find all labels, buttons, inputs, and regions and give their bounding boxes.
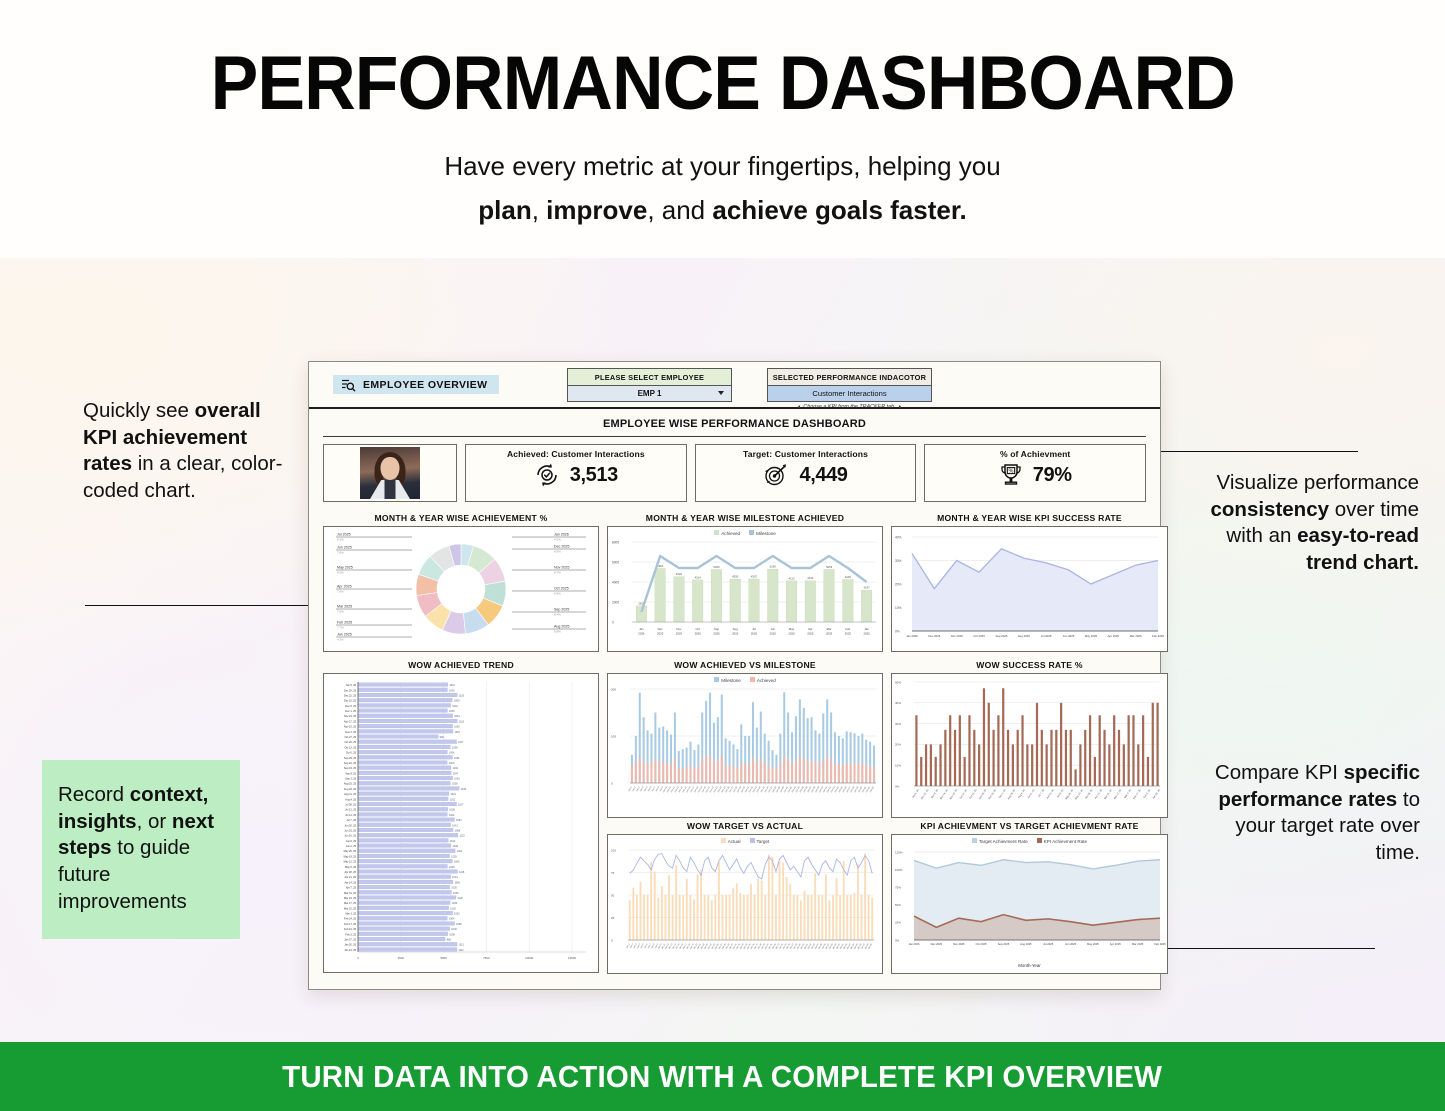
svg-text:75%: 75%: [895, 886, 901, 890]
svg-text:Dec 2025: Dec 2025: [931, 942, 943, 946]
employee-photo-card: [323, 444, 457, 502]
svg-text:Sep 29, 25: Sep 29, 25: [978, 788, 987, 800]
svg-text:Apr 7, 25: Apr 7, 25: [346, 887, 357, 890]
svg-text:May 5, 25: May 5, 25: [345, 866, 357, 869]
svg-text:1005: 1005: [449, 689, 455, 692]
kpi-target-xlabel: Month-Year: [892, 962, 1167, 968]
svg-text:Apr 28, 25: Apr 28, 25: [1085, 788, 1094, 799]
svg-text:Dec: Dec: [658, 627, 664, 631]
svg-text:Aug 4, 25: Aug 4, 25: [1017, 788, 1026, 799]
legend-wow-milestone: Milestone Achieved: [608, 674, 882, 683]
svg-text:Oct 6, 25: Oct 6, 25: [346, 752, 357, 755]
svg-text:1013: 1013: [450, 840, 456, 843]
svg-text:Feb 17, 25: Feb 17, 25: [1133, 788, 1142, 800]
svg-text:8.9%: 8.9%: [554, 591, 561, 595]
chart-wow-achieved-trend-plot[interactable]: 025005000750010000125001010Jan 5, 261005…: [323, 673, 599, 973]
employee-overview-chip[interactable]: EMPLOYEE OVERVIEW: [333, 375, 499, 394]
svg-text:4245: 4245: [845, 575, 852, 579]
svg-text:4000: 4000: [612, 580, 619, 584]
svg-text:20%: 20%: [895, 582, 902, 586]
subtitle-bold-improve: improve: [546, 195, 647, 225]
svg-text:Apr 2025: Apr 2025: [1108, 634, 1120, 638]
kpi-selector-caption: SELECTED PERFORMANCE INDACOTOR: [767, 368, 932, 386]
svg-text:Jun 2025: Jun 2025: [1063, 634, 1075, 638]
svg-text:Feb 2025: Feb 2025: [337, 621, 352, 625]
svg-text:1084: 1084: [456, 819, 462, 822]
svg-text:Jan: Jan: [864, 627, 869, 631]
svg-text:Aug 2025: Aug 2025: [554, 625, 569, 629]
svg-text:Mar 2025: Mar 2025: [1132, 942, 1144, 946]
svg-text:Oct 2025: Oct 2025: [976, 942, 987, 946]
kpi-card-percent: % of Achievment % 79%: [924, 444, 1146, 502]
svg-text:Sep 1, 25: Sep 1, 25: [345, 778, 356, 781]
anno4-text-1: Compare KPI: [1215, 761, 1344, 784]
svg-text:Aug 11, 25: Aug 11, 25: [344, 793, 357, 796]
annotation-kpi-achievement: Quickly see overall KPI achievement rate…: [83, 398, 288, 505]
employee-selector[interactable]: PLEASE SELECT EMPLOYEE EMP 1: [567, 368, 732, 402]
svg-text:Dec 8, 25: Dec 8, 25: [345, 705, 356, 708]
svg-text:1035: 1035: [452, 902, 458, 905]
svg-text:1030: 1030: [451, 928, 457, 931]
svg-text:Jan 20, 25: Jan 20, 25: [344, 944, 356, 947]
svg-text:Aug 18, 25: Aug 18, 25: [1007, 788, 1016, 800]
svg-text:Jun 9, 25: Jun 9, 25: [1056, 788, 1064, 798]
chart-achievement-pct-title: MONTH & YEAR WISE ACHIEVEMENT %: [323, 510, 599, 526]
svg-text:0%: 0%: [895, 784, 900, 788]
legend-milestone: Achieved Milestone: [608, 527, 882, 536]
wow-target-actual-svg: 0255075100Jan 1Jan 2Jan 3Jan 4Jan 5Jan 6…: [608, 844, 882, 968]
svg-text:4.5%: 4.5%: [554, 537, 561, 541]
svg-text:1060: 1060: [454, 700, 460, 703]
svg-text:50%: 50%: [895, 680, 901, 684]
anno2-text-2: , or: [137, 810, 172, 833]
svg-text:Jan: Jan: [639, 627, 644, 631]
svg-text:Apr 28, 25: Apr 28, 25: [344, 871, 356, 874]
svg-text:1068: 1068: [455, 829, 461, 832]
svg-text:2026: 2026: [638, 632, 645, 636]
kpi-card-row: Achieved: Customer Interactions 3,513 Ta…: [309, 444, 1160, 510]
svg-text:1100: 1100: [457, 897, 463, 900]
svg-text:2025: 2025: [751, 632, 758, 636]
svg-text:40%: 40%: [895, 535, 902, 539]
svg-text:200: 200: [611, 687, 616, 691]
svg-text:Feb 17, 25: Feb 17, 25: [344, 923, 357, 926]
subtitle-line-2: plan, improve, and achieve goals faster.: [478, 195, 967, 226]
achieved-target-icon: [534, 462, 560, 488]
bottom-banner: TURN DATA INTO ACTION WITH A COMPLETE KP…: [0, 1042, 1445, 1111]
svg-text:Mar: Mar: [827, 627, 832, 631]
svg-text:4214: 4214: [695, 575, 702, 579]
chevron-down-icon[interactable]: [718, 391, 724, 395]
svg-text:Nov 10, 25: Nov 10, 25: [949, 788, 958, 800]
svg-text:75: 75: [611, 871, 615, 875]
svg-text:1044: 1044: [452, 767, 458, 770]
svg-text:Oct 13, 25: Oct 13, 25: [344, 746, 356, 749]
svg-text:1085: 1085: [456, 923, 462, 926]
wow-trend-svg: 025005000750010000125001010Jan 5, 261005…: [324, 674, 598, 972]
kpi-selector-value[interactable]: Customer Interactions: [767, 386, 932, 403]
chart-wow-achieved-vs-milestone-plot[interactable]: Milestone Achieved 0100200Jan 1Jan 2Jan …: [607, 673, 883, 818]
svg-text:Sep 15, 25: Sep 15, 25: [344, 767, 357, 770]
svg-text:4116: 4116: [807, 576, 813, 580]
svg-text:1107: 1107: [458, 803, 464, 806]
svg-text:1029: 1029: [451, 855, 457, 858]
svg-text:Jan 2025: Jan 2025: [337, 633, 352, 637]
svg-text:Sep 1, 25: Sep 1, 25: [998, 788, 1007, 799]
svg-text:Jun: Jun: [771, 627, 776, 631]
anno1-text-1: Quickly see: [83, 399, 195, 422]
milestone-chart-svg: 0200040006000800016105354453242145250429…: [608, 536, 882, 646]
svg-text:10%: 10%: [895, 606, 902, 610]
svg-text:May 2025: May 2025: [1085, 634, 1098, 638]
anno2-text-1: Record: [58, 783, 130, 806]
svg-text:Oct 20, 25: Oct 20, 25: [344, 741, 356, 744]
svg-text:Jul 2025: Jul 2025: [1041, 634, 1052, 638]
svg-text:Feb 2025: Feb 2025: [1154, 942, 1166, 946]
svg-text:1003: 1003: [449, 762, 455, 765]
chart-wow-achieved-trend: WOW ACHIEVED TREND 025005000750010000125…: [323, 657, 599, 974]
svg-text:1060: 1060: [454, 861, 460, 864]
svg-text:Jul 28, 25: Jul 28, 25: [345, 803, 356, 806]
svg-text:30%: 30%: [895, 722, 901, 726]
chart-wow-target-vs-actual-title: WOW TARGET VS ACTUAL: [607, 818, 883, 834]
svg-text:Mar 31, 25: Mar 31, 25: [344, 892, 357, 895]
svg-text:100: 100: [611, 848, 616, 852]
wow-success-svg: 0%10%20%30%40%50%Jan 5, 26Dec 22, 25Dec …: [892, 674, 1167, 817]
chart-row-1: MONTH & YEAR WISE ACHIEVEMENT % Jan 2026…: [323, 510, 1146, 652]
svg-text:Jun 16, 25: Jun 16, 25: [344, 835, 356, 838]
chart-wow-achieved-vs-milestone-title: WOW ACHIEVED VS MILESTONE: [607, 657, 883, 673]
svg-text:1047: 1047: [453, 772, 459, 775]
svg-text:Aug: Aug: [733, 627, 738, 631]
svg-text:%: %: [1008, 468, 1013, 474]
svg-text:125%: 125%: [895, 850, 903, 854]
svg-text:Apr 14, 25: Apr 14, 25: [344, 881, 356, 884]
svg-text:Mar 3, 25: Mar 3, 25: [345, 913, 356, 916]
svg-text:30%: 30%: [895, 559, 902, 563]
page-header: PERFORMANCE DASHBOARD Have every metric …: [0, 0, 1445, 258]
trophy-percent-icon: %: [999, 462, 1023, 488]
chart-wow-success-rate-plot[interactable]: 0%10%20%30%40%50%Jan 5, 26Dec 22, 25Dec …: [891, 673, 1168, 818]
svg-text:May 2025: May 2025: [1087, 942, 1099, 946]
svg-text:1008: 1008: [449, 933, 455, 936]
svg-text:Jun 30, 25: Jun 30, 25: [344, 824, 356, 827]
svg-text:Jul 2025: Jul 2025: [1043, 942, 1054, 946]
svg-text:Oct 13, 25: Oct 13, 25: [969, 788, 978, 799]
svg-text:2025: 2025: [676, 632, 683, 636]
svg-text:2025: 2025: [657, 632, 664, 636]
chart-wow-target-vs-actual-plot[interactable]: Actual Target 0255075100Jan 1Jan 2Jan 3J…: [607, 834, 883, 974]
search-list-icon: [341, 378, 356, 392]
svg-text:Jul 2025: Jul 2025: [337, 533, 351, 537]
svg-text:Apr 2025: Apr 2025: [337, 585, 352, 589]
svg-text:2025: 2025: [788, 632, 795, 636]
employee-selector-value[interactable]: EMP 1: [567, 386, 732, 403]
svg-text:8.4%: 8.4%: [554, 612, 561, 616]
svg-text:1063: 1063: [454, 778, 460, 781]
svg-text:1041: 1041: [452, 876, 458, 879]
svg-text:5000: 5000: [440, 956, 447, 960]
svg-text:0: 0: [357, 956, 359, 960]
svg-text:1067: 1067: [454, 731, 460, 734]
svg-text:May 12, 25: May 12, 25: [1074, 788, 1084, 800]
subtitle-line-1: Have every metric at your fingertips, he…: [444, 151, 1000, 182]
svg-text:May 26, 25: May 26, 25: [1065, 788, 1075, 800]
svg-text:0%: 0%: [895, 938, 900, 942]
svg-text:10000: 10000: [525, 956, 533, 960]
svg-text:7.8%: 7.8%: [337, 550, 344, 554]
svg-text:Aug 2025: Aug 2025: [1020, 942, 1032, 946]
kpi-card-percent-caption: % of Achievment: [931, 449, 1139, 459]
kpi-card-achieved: Achieved: Customer Interactions 3,513: [465, 444, 687, 502]
svg-text:8.8%: 8.8%: [554, 629, 561, 633]
svg-text:1010: 1010: [449, 684, 455, 687]
subtitle-bold-achieve: achieve goals faster.: [712, 195, 966, 225]
avatar-face: [381, 457, 400, 480]
svg-text:Jan 69: Jan 69: [868, 943, 873, 950]
svg-text:7.6%: 7.6%: [337, 609, 344, 613]
svg-text:Jan 5, 26: Jan 5, 26: [912, 788, 920, 798]
chart-kpi-success-rate-plot[interactable]: 0%10%20%30%40%Jan 2026Dec 2025Nov 2025Oc…: [891, 526, 1168, 652]
svg-text:Oct: Oct: [696, 627, 701, 631]
svg-text:1038: 1038: [452, 783, 458, 786]
svg-text:Dec 29, 25: Dec 29, 25: [344, 689, 357, 692]
svg-text:1062: 1062: [454, 913, 460, 916]
svg-text:Nov 2025: Nov 2025: [951, 634, 963, 638]
svg-text:Sep: Sep: [714, 627, 719, 631]
svg-text:1116: 1116: [459, 720, 465, 723]
annotation-trend-chart: Visualize performance consistency over t…: [1204, 470, 1419, 577]
svg-text:Sep 2025: Sep 2025: [998, 942, 1010, 946]
anno3-text-1: Visualize performance: [1217, 471, 1419, 494]
svg-text:Jun 23, 25: Jun 23, 25: [344, 829, 356, 832]
subtitle-sep-1: ,: [532, 195, 546, 225]
svg-text:2025: 2025: [770, 632, 777, 636]
svg-text:1012: 1012: [450, 798, 456, 801]
svg-text:Aug 25, 25: Aug 25, 25: [344, 783, 357, 786]
svg-text:Jul 7, 25: Jul 7, 25: [347, 819, 357, 822]
svg-text:Apr: Apr: [808, 627, 812, 631]
chart-kpi-vs-target-title: KPI ACHIEVMENT VS TARGET ACHIEVMENT RATE: [891, 818, 1168, 834]
svg-text:Jul: Jul: [752, 627, 756, 631]
svg-text:1018: 1018: [450, 907, 456, 910]
svg-text:Jun 2025: Jun 2025: [1065, 942, 1077, 946]
svg-text:2025: 2025: [863, 632, 870, 636]
svg-text:2025: 2025: [845, 632, 852, 636]
svg-text:Jun 23, 25: Jun 23, 25: [1046, 788, 1055, 799]
svg-text:4.3%: 4.3%: [337, 637, 344, 641]
svg-text:4290: 4290: [732, 575, 739, 579]
svg-text:Nov 24, 25: Nov 24, 25: [344, 715, 357, 718]
svg-text:Aug 4, 25: Aug 4, 25: [345, 798, 356, 801]
svg-text:Jan 63: Jan 63: [870, 786, 876, 793]
employee-overview-label: EMPLOYEE OVERVIEW: [363, 379, 487, 391]
employee-selector-text: EMP 1: [638, 389, 662, 398]
svg-text:Mar 2025: Mar 2025: [337, 605, 352, 609]
title-divider: [323, 436, 1146, 437]
svg-text:7500: 7500: [483, 956, 490, 960]
svg-text:1042: 1042: [452, 705, 458, 708]
chart-row-2: WOW ACHIEVED TREND 025005000750010000125…: [323, 657, 1146, 974]
svg-text:1064: 1064: [454, 715, 460, 718]
svg-text:1063: 1063: [454, 726, 460, 729]
svg-text:Jan 2026: Jan 2026: [554, 533, 569, 537]
svg-text:Dec 15, 25: Dec 15, 25: [344, 700, 357, 703]
svg-text:Oct 2025: Oct 2025: [554, 587, 569, 591]
annotation-compare-rates: Compare KPI specific performance rates t…: [1198, 760, 1420, 867]
svg-text:1004: 1004: [449, 814, 455, 817]
svg-text:2500: 2500: [398, 956, 405, 960]
svg-text:2025: 2025: [695, 632, 702, 636]
chart-kpi-success-rate: MONTH & YEAR WISE KPI SUCCESS RATE 0%10%…: [891, 510, 1168, 652]
svg-text:0: 0: [612, 620, 614, 624]
svg-text:1118: 1118: [459, 871, 465, 874]
kpi-card-target-caption: Target: Customer Interactions: [702, 449, 910, 459]
svg-text:3187: 3187: [863, 586, 870, 590]
svg-text:Mar 3, 25: Mar 3, 25: [1124, 788, 1133, 799]
kpi-selector-hint: ▲ Choose a KPI from the TRACKER tab. ▲: [767, 404, 932, 410]
svg-text:May: May: [789, 627, 795, 631]
svg-text:1050: 1050: [453, 892, 459, 895]
svg-text:Apr 14, 25: Apr 14, 25: [1094, 788, 1103, 799]
svg-text:Feb 2025: Feb 2025: [1152, 634, 1164, 638]
svg-text:25: 25: [611, 916, 615, 920]
svg-text:Jan 20, 25: Jan 20, 25: [1152, 788, 1161, 799]
annotation-record-context: Record context, insights, or next steps …: [42, 760, 240, 939]
svg-text:1091: 1091: [457, 850, 463, 853]
svg-text:5290: 5290: [770, 565, 777, 569]
chart-milestone-achieved-plot[interactable]: Achieved Milestone 020004000600080001610…: [607, 526, 883, 652]
svg-text:Jan 27, 25: Jan 27, 25: [344, 938, 356, 941]
chart-wow-success-rate-title: WOW SUCCESS RATE %: [891, 657, 1168, 673]
employee-selector-caption: PLEASE SELECT EMPLOYEE: [567, 368, 732, 386]
kpi-card-achieved-caption: Achieved: Customer Interactions: [472, 449, 680, 459]
chart-achievement-pct: MONTH & YEAR WISE ACHIEVEMENT % Jan 2026…: [323, 510, 599, 652]
svg-text:0: 0: [611, 781, 613, 785]
svg-text:May 2025: May 2025: [337, 566, 353, 570]
svg-text:Jul 14, 25: Jul 14, 25: [345, 814, 356, 817]
avatar: [360, 447, 420, 499]
svg-text:1122: 1122: [459, 835, 465, 838]
page-title: PERFORMANCE DASHBOARD: [210, 46, 1234, 122]
svg-text:Mar 24, 25: Mar 24, 25: [344, 897, 357, 900]
svg-text:Jul 21, 25: Jul 21, 25: [1027, 788, 1036, 799]
svg-text:Jun 2, 25: Jun 2, 25: [346, 845, 357, 848]
svg-text:Dec 1, 25: Dec 1, 25: [345, 710, 356, 713]
svg-text:2000: 2000: [612, 600, 619, 604]
svg-text:Mar 31, 25: Mar 31, 25: [1104, 788, 1113, 800]
wow-milestone-svg: 0100200Jan 1Jan 2Jan 3Jan 4Jan 5Jan 6Jan…: [608, 683, 882, 812]
svg-text:7.6%: 7.6%: [337, 589, 344, 593]
svg-text:1005: 1005: [449, 866, 455, 869]
svg-text:1021: 1021: [450, 793, 456, 796]
svg-text:12500: 12500: [568, 956, 576, 960]
kpi-card-achieved-value: 3,513: [570, 464, 618, 487]
svg-text:980: 980: [447, 938, 452, 941]
chart-milestone-achieved-title: MONTH & YEAR WISE MILESTONE ACHIEVED: [607, 510, 883, 526]
svg-text:4307: 4307: [751, 574, 758, 578]
svg-text:1107: 1107: [458, 741, 464, 744]
svg-text:Apr 21, 25: Apr 21, 25: [344, 876, 356, 879]
svg-text:May 12, 25: May 12, 25: [344, 861, 357, 864]
svg-text:8000: 8000: [612, 540, 619, 544]
svg-text:Dec 8, 25: Dec 8, 25: [931, 788, 940, 799]
svg-text:Mar 17, 25: Mar 17, 25: [344, 902, 357, 905]
svg-text:Aug 2025: Aug 2025: [1018, 634, 1030, 638]
svg-text:1008: 1008: [449, 809, 455, 812]
svg-text:Feb: Feb: [845, 627, 850, 631]
svg-text:Nov 17, 25: Nov 17, 25: [344, 720, 357, 723]
svg-text:100%: 100%: [895, 868, 903, 872]
svg-text:2025: 2025: [713, 632, 720, 636]
svg-text:2025: 2025: [807, 632, 814, 636]
chart-kpi-success-rate-title: MONTH & YEAR WISE KPI SUCCESS RATE: [891, 510, 1168, 526]
svg-text:Nov 2025: Nov 2025: [554, 566, 569, 570]
svg-text:Nov 2025: Nov 2025: [953, 942, 965, 946]
kpi-selector[interactable]: SELECTED PERFORMANCE INDACOTOR Customer …: [767, 368, 932, 410]
donut-chart-svg: Jan 20264.5%Dec 20258.9%Nov 20258.7%Oct …: [324, 527, 598, 651]
svg-text:Sep 15, 25: Sep 15, 25: [988, 788, 997, 800]
svg-text:Mar 17, 25: Mar 17, 25: [1113, 788, 1122, 800]
chart-kpi-vs-target-plot[interactable]: Target Achievment Rate KPI Achievment Ra…: [891, 834, 1168, 974]
svg-text:5250: 5250: [713, 565, 720, 569]
svg-text:Jul 21, 25: Jul 21, 25: [345, 809, 356, 812]
svg-text:8.3%: 8.3%: [337, 537, 344, 541]
svg-text:Dec 2025: Dec 2025: [554, 545, 569, 549]
svg-text:Feb 24, 25: Feb 24, 25: [344, 918, 357, 921]
chart-col-right: WOW SUCCESS RATE % 0%10%20%30%40%50%Jan …: [891, 657, 1168, 974]
anno3-bold-2: easy-to-read trend chart.: [1297, 524, 1419, 574]
svg-text:6000: 6000: [612, 560, 619, 564]
bottom-banner-text: TURN DATA INTO ACTION WITH A COMPLETE KP…: [283, 1059, 1163, 1095]
svg-text:40%: 40%: [895, 701, 901, 705]
svg-text:1061: 1061: [454, 757, 460, 760]
svg-text:Dec 22, 25: Dec 22, 25: [344, 694, 357, 697]
svg-text:Sep 8, 25: Sep 8, 25: [345, 772, 356, 775]
svg-text:0: 0: [611, 938, 613, 942]
svg-text:1116: 1116: [459, 694, 465, 697]
dashboard-title: EMPLOYEE WISE PERFORMANCE DASHBOARD: [309, 409, 1160, 436]
svg-text:100: 100: [611, 734, 616, 738]
subtitle-bold-plan: plan: [478, 195, 531, 225]
svg-text:20%: 20%: [895, 743, 901, 747]
svg-text:Nov: Nov: [676, 627, 682, 631]
svg-text:1113: 1113: [459, 944, 465, 947]
svg-text:Jun 2025: Jun 2025: [337, 546, 352, 550]
svg-text:25%: 25%: [895, 921, 901, 925]
svg-text:8.9%: 8.9%: [554, 549, 561, 553]
svg-text:Mar 10, 25: Mar 10, 25: [344, 907, 357, 910]
svg-text:1030: 1030: [451, 887, 457, 890]
svg-text:4113: 4113: [789, 576, 795, 580]
svg-text:1004: 1004: [449, 752, 455, 755]
svg-text:Oct 27, 25: Oct 27, 25: [344, 736, 356, 739]
svg-text:Jan 2026: Jan 2026: [906, 634, 918, 638]
svg-text:Jun 9, 25: Jun 9, 25: [346, 840, 357, 843]
svg-text:1038: 1038: [452, 746, 458, 749]
svg-text:2025: 2025: [826, 632, 833, 636]
svg-text:Jan 13, 25: Jan 13, 25: [344, 949, 356, 952]
svg-text:1041: 1041: [452, 824, 458, 827]
svg-text:Jan 2026: Jan 2026: [908, 942, 920, 946]
svg-text:Oct 2025: Oct 2025: [973, 634, 985, 638]
chart-achievement-pct-plot[interactable]: Jan 20264.5%Dec 20258.9%Nov 20258.7%Oct …: [323, 526, 599, 652]
svg-text:May 26, 25: May 26, 25: [344, 850, 357, 853]
legend-kpi-target: Target Achievment Rate KPI Achievment Ra…: [892, 835, 1167, 844]
svg-text:50: 50: [611, 893, 615, 897]
svg-text:Mar 2025: Mar 2025: [1130, 634, 1142, 638]
kpi-success-svg: 0%10%20%30%40%Jan 2026Dec 2025Nov 2025Oc…: [892, 527, 1167, 651]
